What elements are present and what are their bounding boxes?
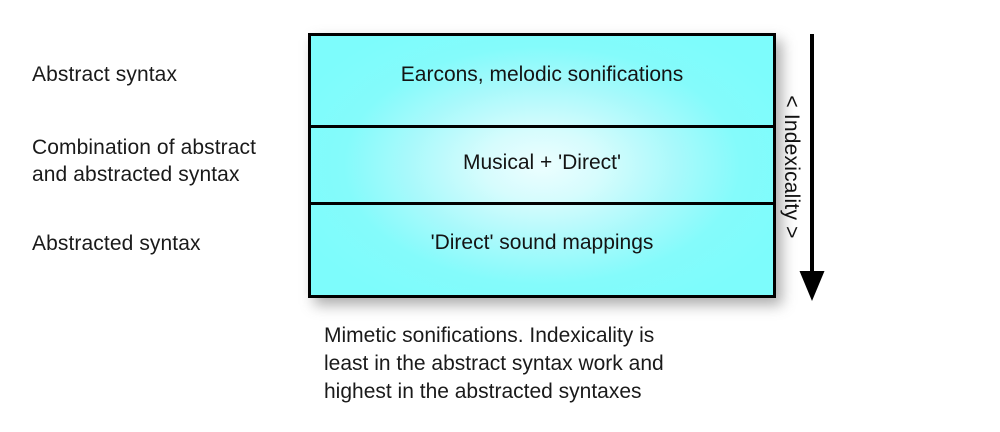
stack-box: Earcons, melodic sonifications Musical +… — [308, 33, 776, 298]
sonification-stack: Earcons, melodic sonifications Musical +… — [308, 33, 776, 298]
indexicality-axis: < Indexicality > — [790, 30, 900, 305]
indexicality-axis-label: < Indexicality > — [774, 36, 808, 298]
left-label-combination-syntax: Combination of abstract and abstracted s… — [32, 134, 256, 188]
figure-caption: Mimetic sonifications. Indexicality is l… — [324, 322, 794, 406]
stack-row-earcons: Earcons, melodic sonifications — [311, 36, 773, 125]
stack-row-musical-direct: Musical + 'Direct' — [311, 125, 773, 205]
stack-row-musical-direct-label: Musical + 'Direct' — [463, 150, 621, 202]
stack-row-direct-sound-mappings-label: 'Direct' sound mappings — [431, 230, 654, 292]
stack-row-earcons-label: Earcons, melodic sonifications — [401, 62, 683, 125]
left-label-abstract-syntax: Abstract syntax — [32, 61, 177, 88]
diagram-canvas: Abstract syntax Combination of abstract … — [0, 0, 1000, 432]
left-label-abstracted-syntax: Abstracted syntax — [32, 230, 201, 257]
stack-row-direct-sound-mappings: 'Direct' sound mappings — [311, 205, 773, 292]
